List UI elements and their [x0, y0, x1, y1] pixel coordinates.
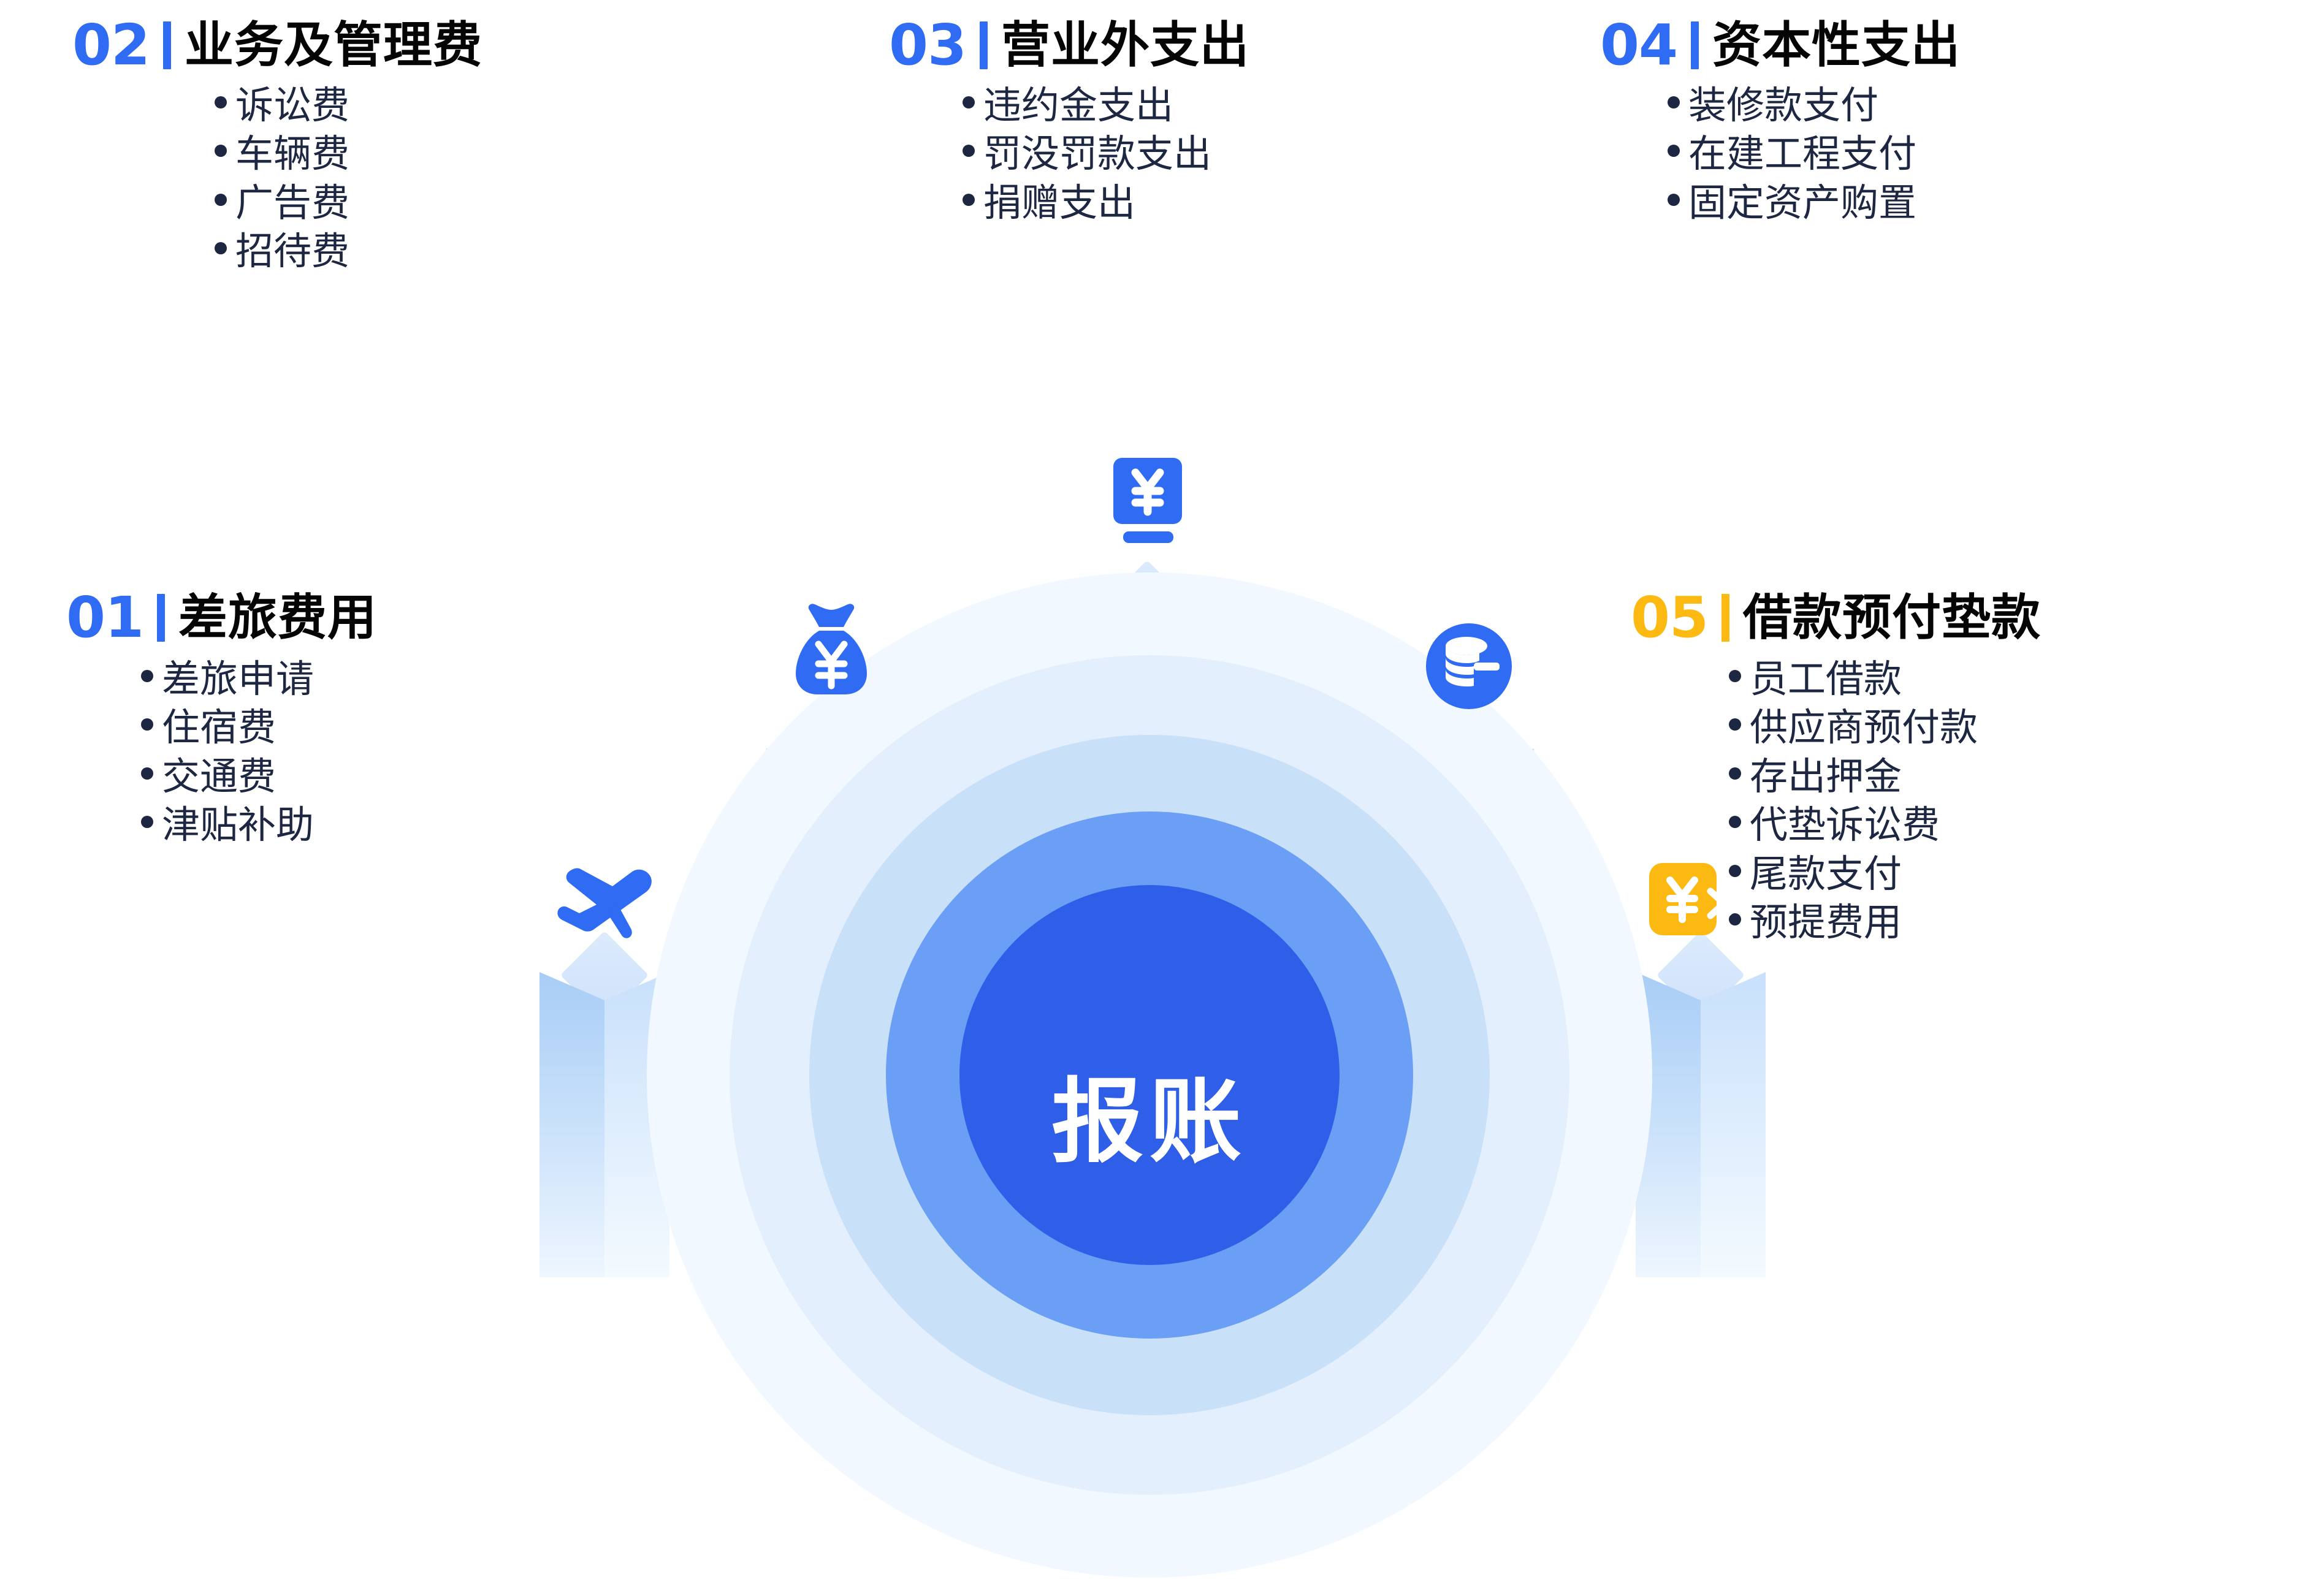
list-item-label: 存出押金 [1750, 756, 1902, 798]
bullet-icon [963, 96, 975, 108]
pedestal-loan [1636, 944, 1766, 1277]
pedestal-right-face [831, 748, 896, 1277]
pedestal-right-face [604, 972, 669, 1277]
category-block-04: 04 资本性支出 装修款支付 在建工程支付 固定资产购置 [1600, 17, 1961, 230]
list-item-label: 捐赠支出 [983, 182, 1135, 224]
airplane-icon [554, 857, 676, 958]
pedestal-right-face [1701, 972, 1766, 1277]
center-label: 报账 [1051, 1047, 1248, 1180]
payment-card-icon [1101, 458, 1193, 565]
list-item-label: 员工借款 [1750, 658, 1902, 701]
bullet-icon [1729, 816, 1741, 828]
list-item: 差旅申请 [141, 658, 377, 701]
pedestal-left-face [1082, 601, 1147, 1277]
list-item: 捐赠支出 [963, 182, 1249, 224]
bullet-icon [141, 670, 153, 682]
list-item: 供应商预付款 [1729, 707, 2041, 749]
ring-core [959, 885, 1340, 1265]
list-item: 交通费 [141, 756, 377, 798]
bullet-icon [1729, 865, 1741, 877]
category-item-list: 差旅申请 住宿费 交通费 津贴补助 [66, 658, 377, 847]
bullet-icon [1668, 96, 1680, 108]
ring-4 [886, 811, 1413, 1339]
list-item: 存出押金 [1729, 756, 2041, 798]
bullet-icon [141, 816, 153, 828]
category-number: 01 [66, 590, 143, 646]
bullet-icon [215, 194, 227, 206]
category-item-list: 装修款支付 在建工程支付 固定资产购置 [1600, 85, 1961, 224]
pedestal-top [1636, 944, 1766, 1000]
category-heading: 03 营业外支出 [889, 17, 1249, 74]
ring-outer-1 [647, 572, 1652, 1578]
category-heading: 05 借款预付垫款 [1631, 590, 2041, 646]
category-block-03: 03 营业外支出 违约金支出 罚没罚款支出 捐赠支出 [889, 17, 1249, 230]
list-item: 诉讼费 [215, 85, 482, 127]
list-item: 员工借款 [1729, 658, 2041, 701]
list-item: 在建工程支付 [1668, 133, 1961, 175]
bullet-icon [1729, 718, 1741, 731]
bullet-icon [141, 767, 153, 780]
category-title: 资本性支出 [1712, 21, 1961, 70]
bullet-icon [215, 242, 227, 254]
list-item-label: 住宿费 [162, 707, 276, 749]
category-number: 02 [72, 17, 150, 74]
ring-2 [730, 655, 1569, 1495]
bullet-icon [1729, 767, 1741, 780]
pedestal-left-face [1636, 972, 1701, 1277]
category-heading: 02 业务及管理费 [72, 17, 482, 74]
category-block-02: 02 业务及管理费 诉讼费 车辆费 广告费 招待费 [72, 17, 482, 279]
list-item-label: 罚没罚款支出 [983, 133, 1211, 175]
list-item: 装修款支付 [1668, 85, 1961, 127]
list-item-label: 车辆费 [235, 133, 349, 175]
concentric-rings [628, 554, 1671, 1596]
category-item-list: 违约金支出 罚没罚款支出 捐赠支出 [889, 85, 1249, 224]
list-item-label: 违约金支出 [983, 85, 1173, 127]
list-item-label: 供应商预付款 [1750, 707, 1978, 749]
list-item: 车辆费 [215, 133, 482, 175]
category-item-list: 员工借款 供应商预付款 存出押金 代垫诉讼费 尾款支付 预提费用 [1631, 658, 2041, 944]
money-bag-icon [782, 602, 880, 704]
list-item: 广告费 [215, 182, 482, 224]
bullet-icon [215, 96, 227, 108]
category-number: 05 [1631, 590, 1708, 646]
list-item-label: 差旅申请 [162, 658, 314, 701]
category-block-01: 01 差旅费用 差旅申请 住宿费 交通费 津贴补助 [66, 590, 377, 853]
list-item-label: 代垫诉讼费 [1750, 804, 1940, 846]
pedestal-left-face [766, 748, 831, 1277]
list-item-label: 固定资产购置 [1688, 182, 1916, 224]
list-item: 招待费 [215, 230, 482, 273]
category-heading: 04 资本性支出 [1600, 17, 1961, 74]
pedestal-top [1082, 573, 1212, 629]
list-item: 津贴补助 [141, 804, 377, 846]
pedestal-right-face [1469, 748, 1534, 1277]
divider-bar [1721, 594, 1729, 642]
list-item: 尾款支付 [1729, 853, 2041, 895]
category-number: 04 [1600, 17, 1677, 74]
list-item-label: 津贴补助 [162, 804, 314, 846]
list-item: 住宿费 [141, 707, 377, 749]
pedestal-right-face [1147, 601, 1212, 1277]
list-item-label: 交通费 [162, 756, 276, 798]
bullet-icon [1729, 913, 1741, 925]
category-title: 借款预付垫款 [1743, 593, 2041, 642]
category-title: 营业外支出 [1001, 21, 1249, 70]
pedestal-money-bag [766, 720, 896, 1277]
list-item: 代垫诉讼费 [1729, 804, 2041, 846]
pedestal-left-face [1404, 748, 1469, 1277]
list-item: 固定资产购置 [1668, 182, 1961, 224]
coin-stack-icon [1420, 617, 1518, 718]
pedestal-travel [539, 944, 669, 1277]
bullet-icon [1668, 145, 1680, 157]
category-heading: 01 差旅费用 [66, 590, 377, 646]
list-item-label: 诉讼费 [235, 85, 349, 127]
category-item-list: 诉讼费 车辆费 广告费 招待费 [72, 85, 482, 273]
list-item: 违约金支出 [963, 85, 1249, 127]
list-item-label: 广告费 [235, 182, 349, 224]
pedestal-payment [1082, 573, 1212, 1277]
list-item-label: 装修款支付 [1688, 85, 1878, 127]
list-item: 罚没罚款支出 [963, 133, 1249, 175]
divider-bar [163, 21, 171, 69]
bullet-icon [141, 718, 153, 731]
bullet-icon [1729, 670, 1741, 682]
pedestal-top [766, 720, 896, 777]
pedestal-coins [1404, 720, 1534, 1277]
list-item-label: 在建工程支付 [1688, 133, 1916, 175]
category-title: 差旅费用 [178, 593, 377, 642]
bullet-icon [1668, 194, 1680, 206]
pedestal-top [539, 944, 669, 1000]
pedestal-top [1404, 720, 1534, 777]
category-title: 业务及管理费 [185, 21, 482, 70]
list-item-label: 招待费 [235, 230, 349, 273]
list-item-label: 预提费用 [1750, 902, 1902, 944]
bullet-icon [215, 145, 227, 157]
list-item: 预提费用 [1729, 902, 2041, 944]
divider-bar [1691, 21, 1699, 69]
divider-bar [157, 594, 165, 642]
list-item-label: 尾款支付 [1750, 853, 1902, 895]
category-block-05: 05 借款预付垫款 员工借款 供应商预付款 存出押金 代垫诉讼费 尾款支付 预提… [1631, 590, 2041, 951]
ring-3 [809, 735, 1490, 1415]
divider-bar [980, 21, 988, 69]
category-number: 03 [889, 17, 966, 74]
pedestal-left-face [539, 972, 604, 1277]
bullet-icon [963, 194, 975, 206]
bullet-icon [963, 145, 975, 157]
